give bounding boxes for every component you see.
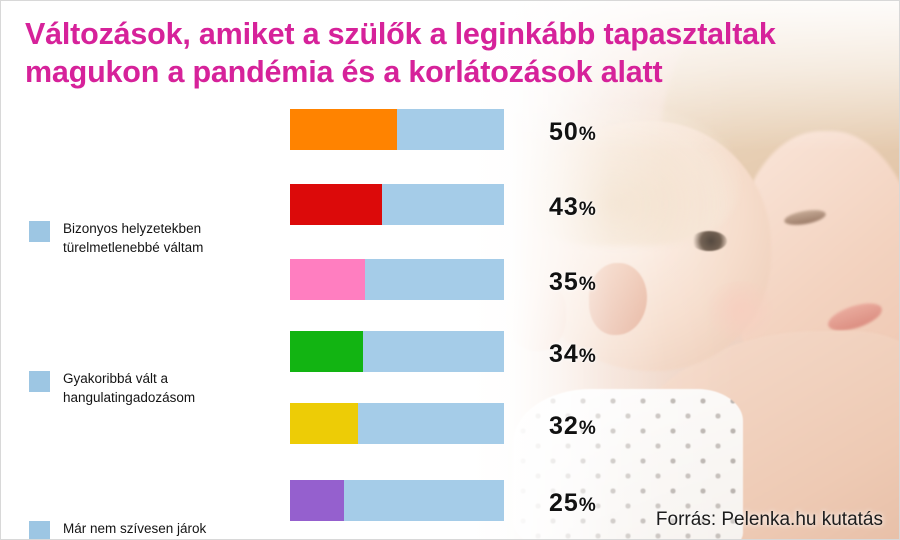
- bar-track: [290, 403, 504, 444]
- value-number: 25: [549, 489, 579, 517]
- chart-row-1: Bizonyos helyzetekben türelmetlenebbé vá…: [1, 109, 900, 153]
- chart-row-label-line-2: türelmetlenebbé váltam: [63, 238, 278, 257]
- chart-row-3: Már nem szívesen járok közösségekbe 35%: [1, 259, 900, 303]
- value-label: 25%: [549, 489, 597, 518]
- value-number: 43: [549, 193, 579, 221]
- value-label: 43%: [549, 193, 597, 222]
- value-unit: %: [579, 495, 597, 516]
- value-unit: %: [579, 274, 597, 295]
- value-unit: %: [579, 346, 597, 367]
- bar-track: [290, 331, 504, 372]
- value-label: 35%: [549, 268, 597, 297]
- bar-fill: [290, 259, 365, 300]
- value-unit: %: [579, 199, 597, 220]
- value-number: 32: [549, 412, 579, 440]
- value-number: 34: [549, 340, 579, 368]
- chart-row-4: Eltávolodtam a barátoktól 34%: [1, 331, 900, 375]
- chart-row-5: Fáradékonyabbá váltam szellemileg 32%: [1, 403, 900, 447]
- bar-fill: [290, 184, 382, 225]
- value-label: 50%: [549, 118, 597, 147]
- bar-fill: [290, 109, 397, 150]
- bar-track: [290, 109, 504, 150]
- bar-track: [290, 184, 504, 225]
- page-title: Változások, amiket a szülők a leginkább …: [25, 15, 885, 92]
- bar-track: [290, 259, 504, 300]
- infographic-canvas: Változások, amiket a szülők a leginkább …: [0, 0, 900, 540]
- value-unit: %: [579, 418, 597, 439]
- bar-track: [290, 480, 504, 521]
- value-number: 50: [549, 118, 579, 146]
- value-label: 34%: [549, 340, 597, 369]
- page-title-line-2: magukon a pandémia és a korlátozások ala…: [25, 53, 885, 91]
- bar-fill: [290, 331, 363, 372]
- value-unit: %: [579, 124, 597, 145]
- bar-fill: [290, 403, 358, 444]
- source-credit: Forrás: Pelenka.hu kutatás: [656, 509, 883, 531]
- value-label: 32%: [549, 412, 597, 441]
- chart-row-2: Gyakoribbá vált a hangulatingadozásom 43…: [1, 184, 900, 228]
- bar-fill: [290, 480, 344, 521]
- value-number: 35: [549, 268, 579, 296]
- page-title-line-1: Változások, amiket a szülők a leginkább …: [25, 15, 885, 53]
